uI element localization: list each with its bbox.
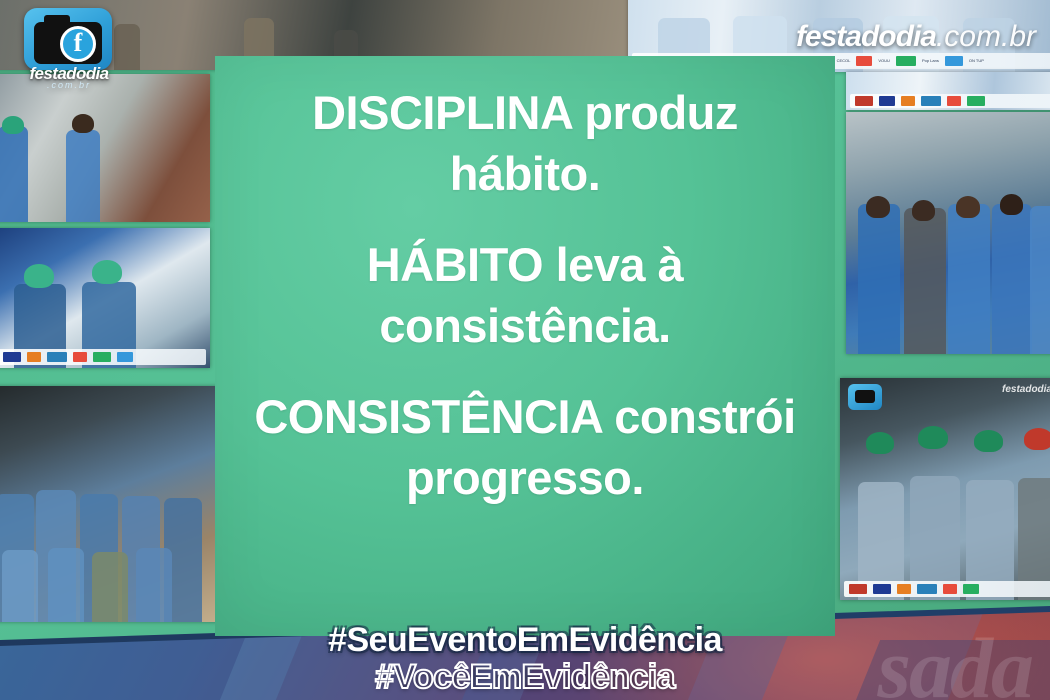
photo-person-head — [1000, 194, 1023, 215]
photo-figure — [136, 548, 172, 622]
photo-figure — [66, 130, 100, 222]
photo-figure — [904, 208, 946, 354]
photo-figure — [992, 204, 1032, 354]
watermark-brand: festadodia — [796, 20, 936, 53]
photo-figure — [858, 204, 900, 354]
sponsor-label: VOUU — [878, 59, 890, 63]
photo-figure — [0, 126, 28, 222]
sponsor-bar — [0, 349, 206, 365]
slide-line-3: CONSISTÊNCIA constrói progresso. — [239, 386, 811, 508]
photo-person-head — [956, 196, 980, 218]
slide-line-1: DISCIPLINA produz hábito. — [239, 82, 811, 204]
photo-tile-right-upper — [846, 112, 1050, 354]
hard-hat-green — [24, 264, 54, 288]
hard-hat-green — [866, 432, 894, 454]
inline-logo-icon — [848, 384, 882, 410]
photo-figure — [92, 552, 128, 622]
photo-figure — [2, 550, 38, 622]
hard-hat-green — [974, 430, 1003, 452]
inline-watermark: festadodia — [1002, 384, 1050, 395]
projected-slide: DISCIPLINA produz hábito. HÁBITO leva à … — [215, 56, 835, 636]
hashtag-block: #SeuEventoEmEvidência #VocêEmEvidência — [0, 623, 1050, 696]
hashtag-secondary: #VocêEmEvidência — [0, 659, 1050, 696]
photo-figure — [948, 204, 990, 354]
sponsor-label: ON TUP — [969, 59, 984, 63]
slide-text-block: DISCIPLINA produz hábito. HÁBITO leva à … — [215, 82, 835, 509]
brand-logo[interactable]: f festadodia .com.br — [14, 8, 124, 90]
sponsor-bar — [844, 581, 1050, 597]
watermark: festadodia.com.br — [796, 20, 1036, 54]
photo-tile-left-upper — [0, 74, 210, 222]
hard-hat-red — [1024, 428, 1050, 450]
photo-person-head — [912, 200, 935, 221]
sponsor-bar — [850, 94, 1050, 108]
photo-figure — [1030, 206, 1050, 354]
slide-line-2: HÁBITO leva à consistência. — [239, 234, 811, 356]
photo-tile-left-lower — [0, 386, 220, 622]
watermark-domain: .com.br — [936, 20, 1036, 53]
sponsor-label: Pop Lans — [922, 59, 939, 63]
photo-person-head — [72, 114, 94, 133]
photo-figure — [48, 548, 84, 622]
hard-hat-green — [2, 116, 24, 134]
facebook-lens-icon: f — [60, 26, 96, 62]
hard-hat-green — [918, 426, 948, 449]
photo-tile-right-sponsor-strip — [846, 72, 1050, 110]
photo-image — [0, 74, 210, 222]
sponsor-label: CECOL — [837, 59, 851, 63]
logo-tld-text: .com.br — [14, 80, 124, 90]
screenshot-root: sada Auto Posto Antonini Unidos Barra Só… — [0, 0, 1050, 700]
hard-hat-green — [92, 260, 122, 284]
photo-tile-right-lower: festadodia — [840, 378, 1050, 600]
hashtag-primary: #SeuEventoEmEvidência — [0, 623, 1050, 658]
photo-person-head — [866, 196, 890, 218]
photo-tile-left-middle — [0, 228, 210, 368]
facebook-f-glyph: f — [74, 30, 83, 56]
